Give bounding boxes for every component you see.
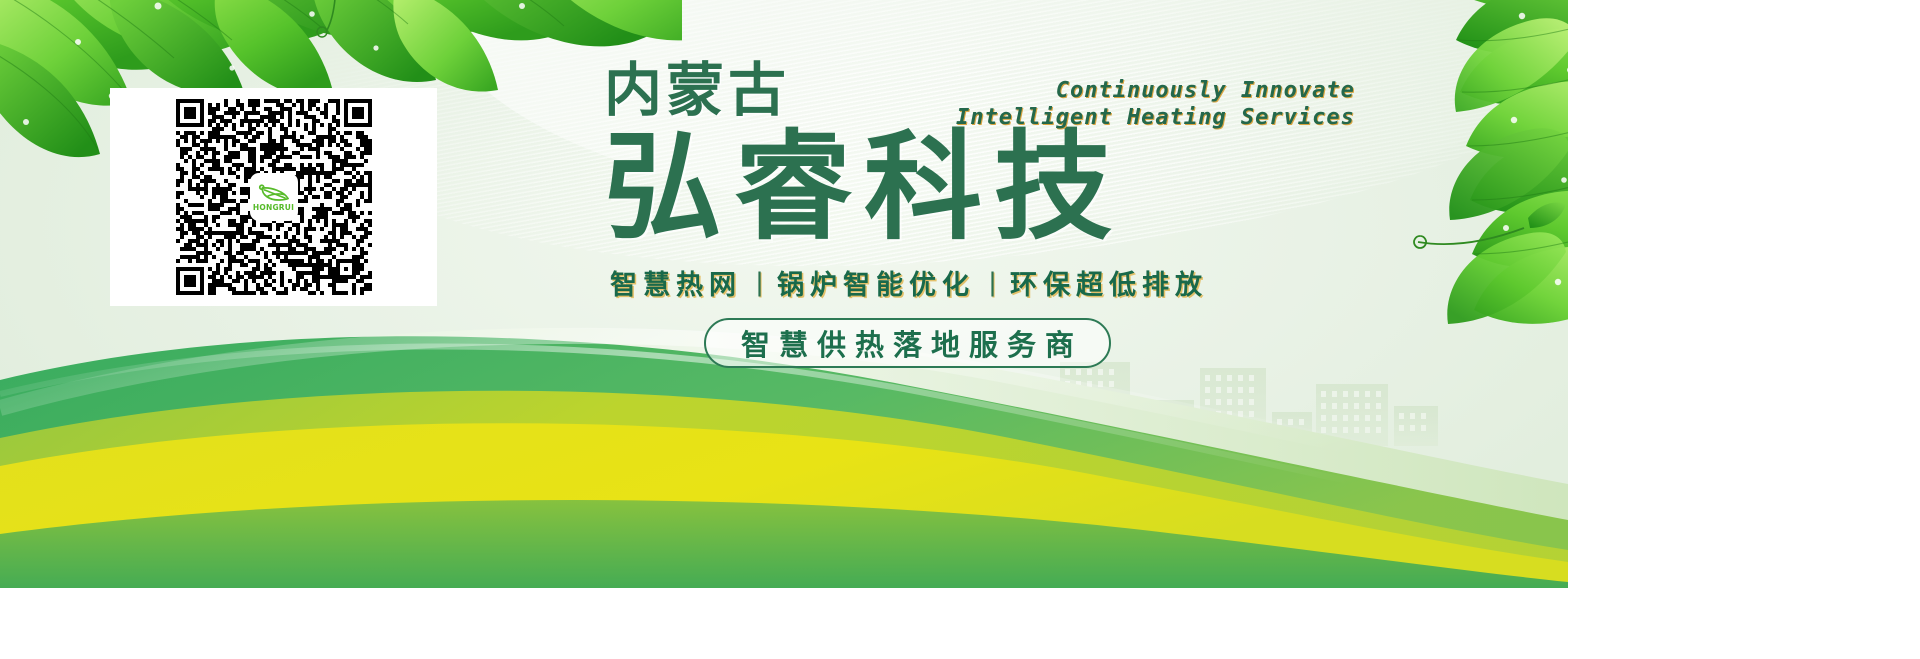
company-banner: HONGRUI 内蒙古 Continuously Innovate Intell… xyxy=(0,0,1568,588)
qr-code-card[interactable]: HONGRUI xyxy=(110,88,437,306)
qr-logo-text: HONGRUI xyxy=(253,204,294,212)
service-tag-1: 智慧热网 xyxy=(610,263,742,302)
positioning-badge-label: 智慧供热落地服务商 xyxy=(732,322,1083,364)
qr-center-logo: HONGRUI xyxy=(252,175,296,219)
english-slogan-line2: Intelligent Heating Services xyxy=(956,105,1355,132)
service-tag-3: 环保超低排放 xyxy=(1010,263,1208,302)
page-whitespace-right xyxy=(1568,0,1920,659)
service-tags: 智慧热网 | 锅炉智能优化 | 环保超低排放 xyxy=(610,263,1454,302)
english-slogan: Continuously Innovate Intelligent Heatin… xyxy=(956,78,1355,132)
leaf-icon xyxy=(258,183,290,204)
positioning-badge: 智慧供热落地服务商 xyxy=(704,318,1111,368)
service-separator: | xyxy=(756,267,763,298)
brand-name: 弘睿科技 xyxy=(604,126,1454,251)
english-slogan-line1: Continuously Innovate xyxy=(956,78,1355,105)
qr-code[interactable]: HONGRUI xyxy=(176,99,372,295)
service-tag-2: 锅炉智能优化 xyxy=(777,263,975,302)
service-separator: | xyxy=(989,267,996,298)
headline-block: 内蒙古 Continuously Innovate Intelligent He… xyxy=(604,62,1454,368)
page-whitespace-bottom xyxy=(0,588,1920,659)
